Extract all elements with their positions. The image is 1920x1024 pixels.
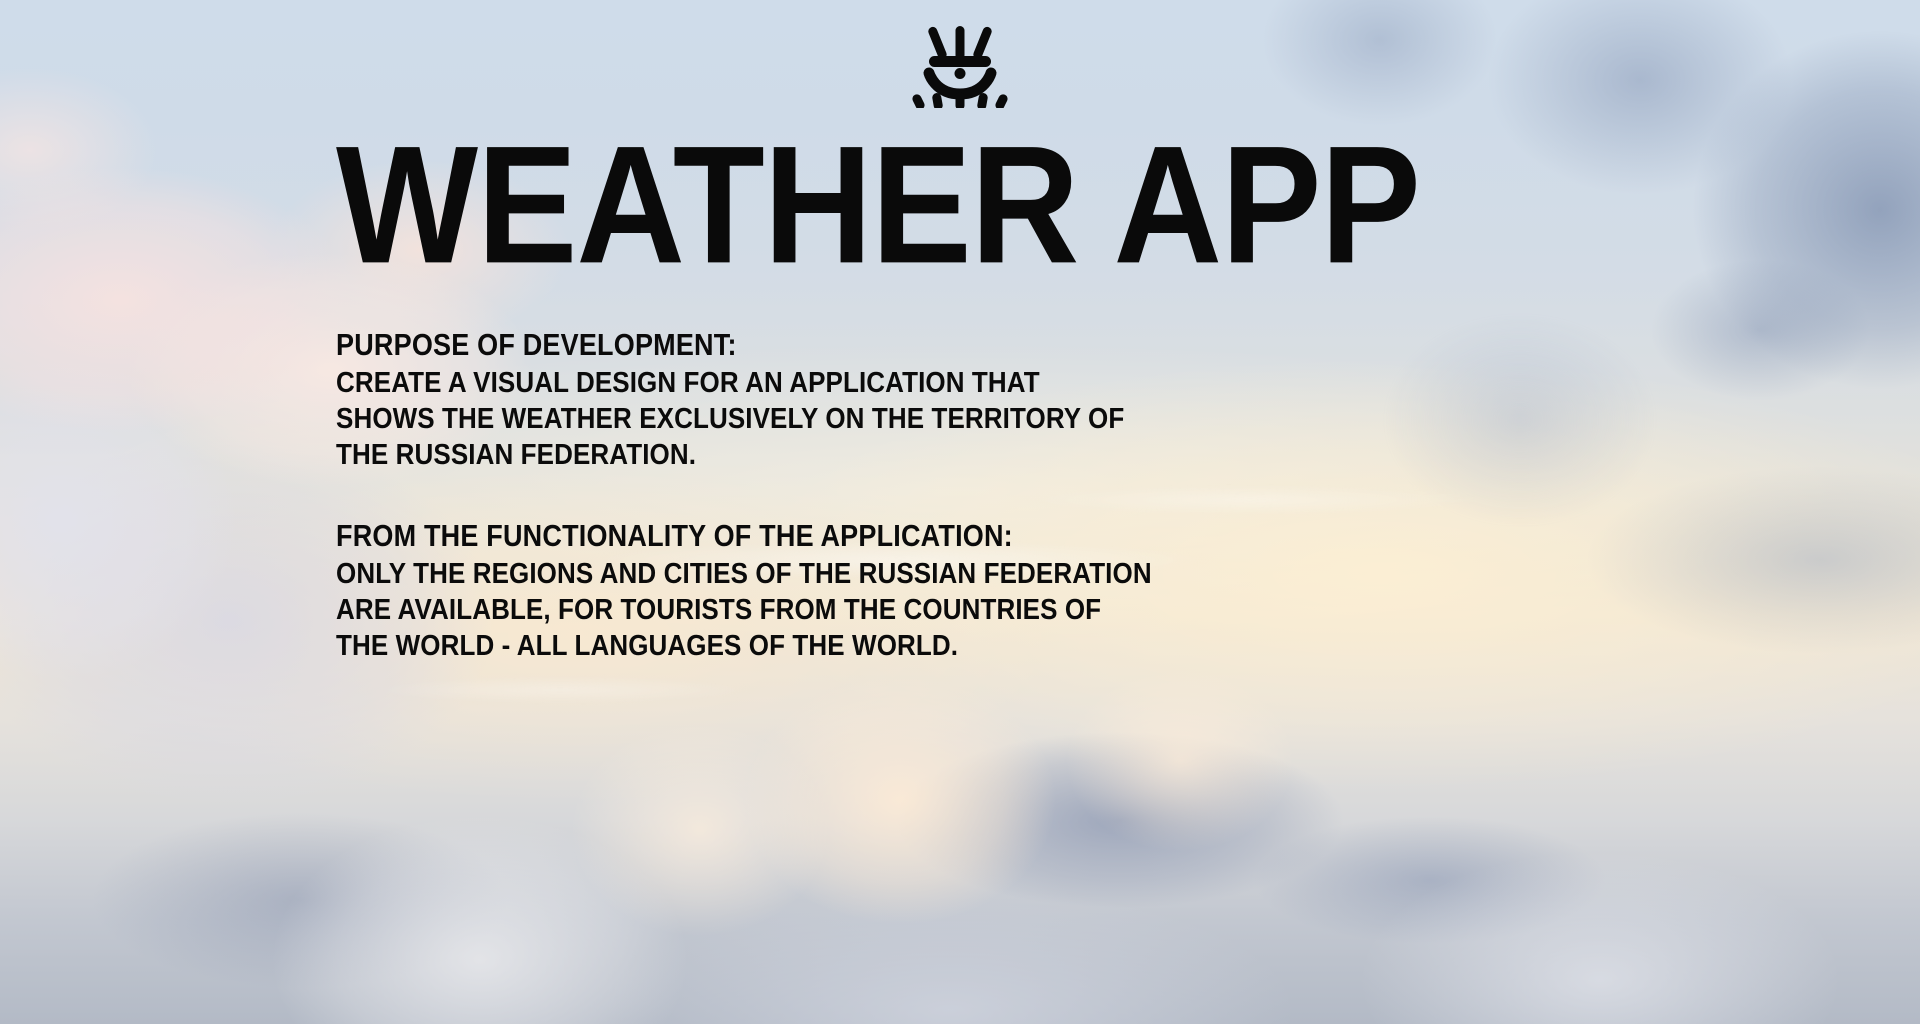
sun-dot-icon	[955, 68, 966, 79]
section-heading: PURPOSE OF DEVELOPMENT:	[336, 325, 1156, 366]
section-line: THE WORLD - ALL LANGUAGES OF THE WORLD.	[336, 625, 1156, 665]
section-line: ONLY THE REGIONS AND CITIES OF THE RUSSI…	[336, 553, 1156, 593]
section-purpose-of-development: PURPOSE OF DEVELOPMENT: CREATE A VISUAL …	[336, 327, 1156, 472]
section-line: SHOWS THE WEATHER EXCLUSIVELY ON THE TER…	[336, 398, 1156, 438]
logo-container	[0, 22, 1920, 108]
section-line: ARE AVAILABLE, FOR TOURISTS FROM THE COU…	[336, 589, 1156, 629]
slide-content: WEATHER APP PURPOSE OF DEVELOPMENT: CREA…	[0, 0, 1920, 1024]
sun-ray-left-icon	[927, 26, 948, 61]
section-line: CREATE A VISUAL DESIGN FOR AN APPLICATIO…	[336, 362, 1156, 402]
rain-drop-1-icon	[911, 93, 926, 108]
sun-ray-right-icon	[972, 26, 993, 61]
page-title: WEATHER APP	[336, 122, 1420, 290]
weather-sun-cloud-rain-logo	[905, 22, 1015, 108]
weather-app-cover-slide: WEATHER APP PURPOSE OF DEVELOPMENT: CREA…	[0, 0, 1920, 1024]
section-heading: FROM THE FUNCTIONALITY OF THE APPLICATIO…	[336, 516, 1156, 557]
horizon-bar-icon	[929, 56, 991, 67]
sun-ray-center-icon	[956, 26, 965, 60]
section-functionality-of-the-application: FROM THE FUNCTIONALITY OF THE APPLICATIO…	[336, 518, 1156, 663]
section-line: THE RUSSIAN FEDERATION.	[336, 434, 1156, 474]
description-copy: PURPOSE OF DEVELOPMENT: CREATE A VISUAL …	[336, 327, 1156, 663]
rain-drop-5-icon	[994, 93, 1009, 108]
rain-drop-3-icon	[956, 92, 965, 108]
